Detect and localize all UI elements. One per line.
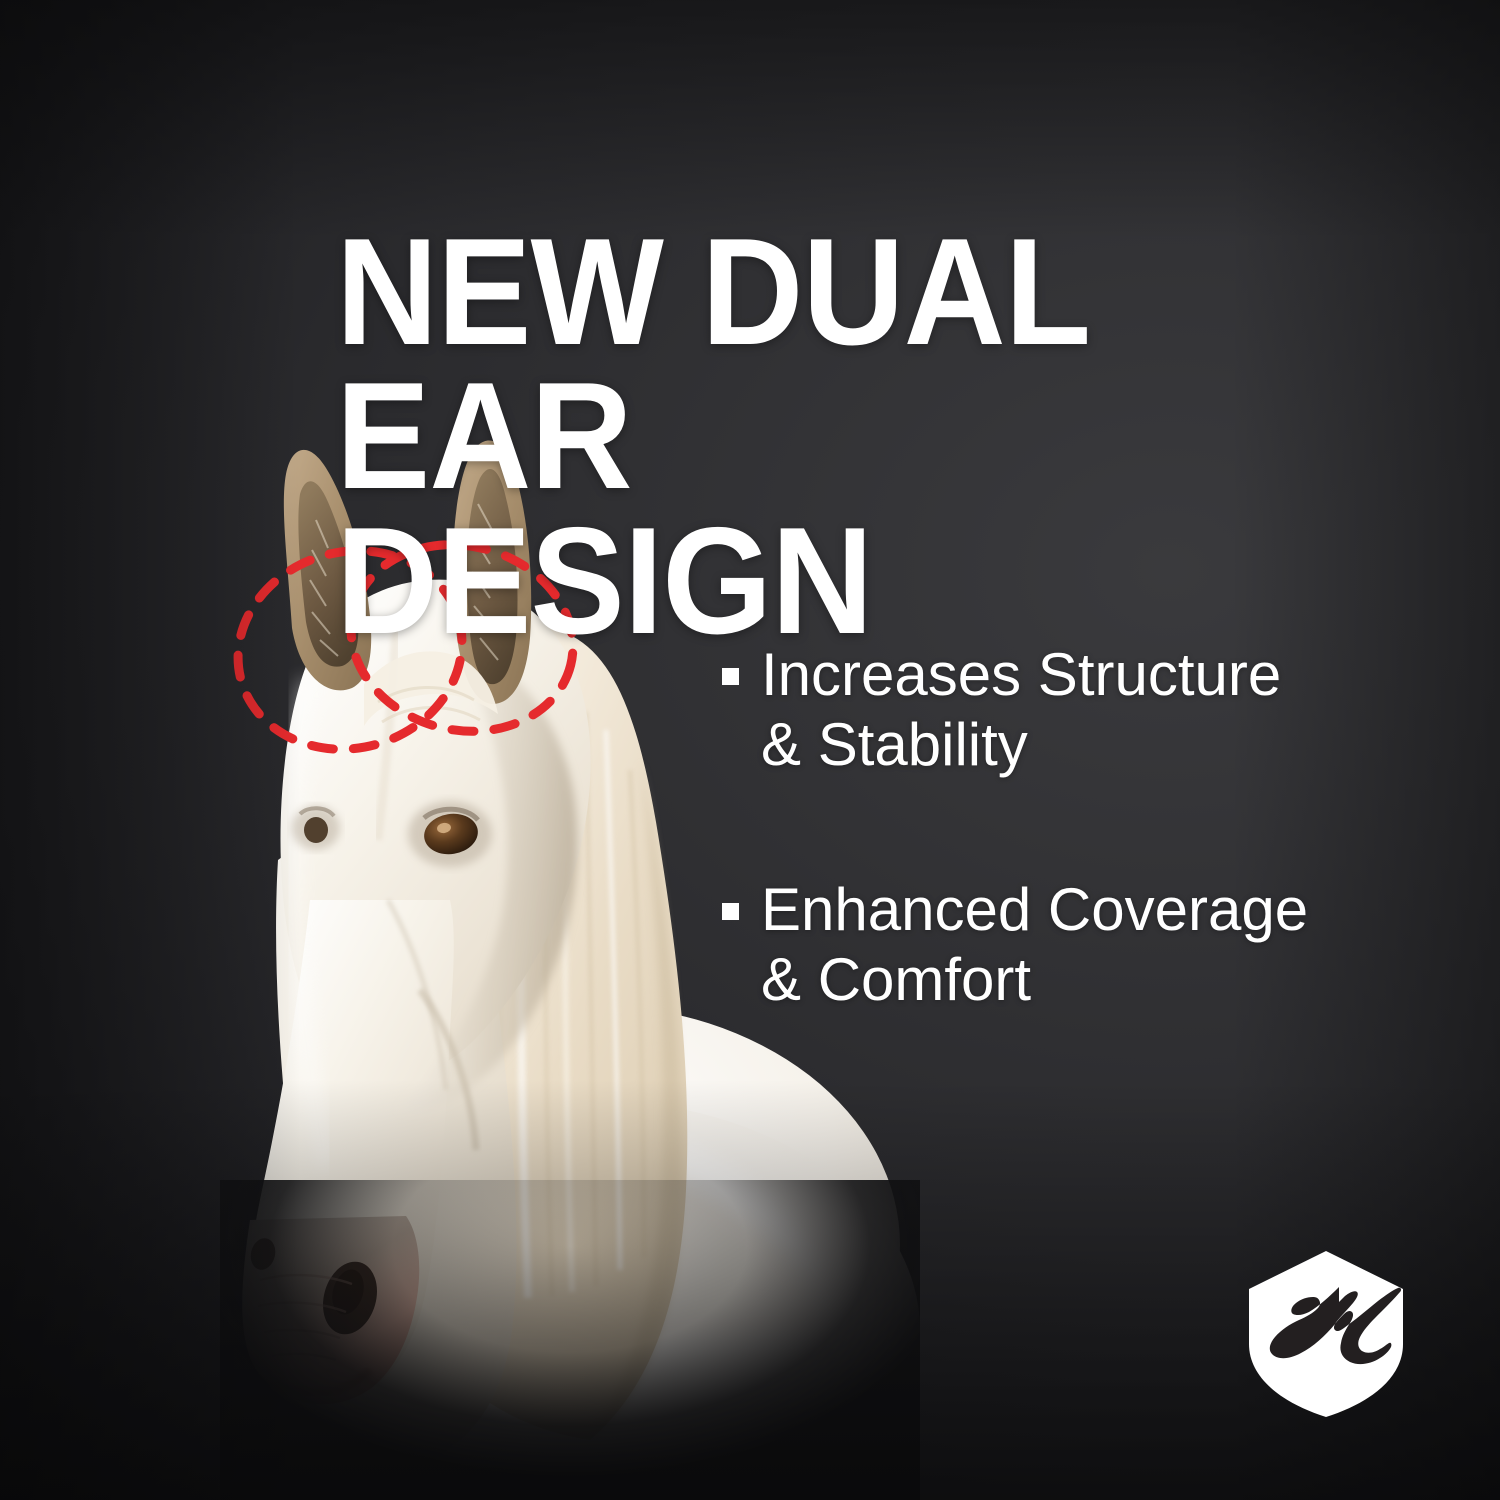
- shield-icon: [1249, 1251, 1403, 1417]
- list-item: Enhanced Coverage & Comfort: [722, 875, 1422, 1014]
- k-shield-logo: [1243, 1248, 1409, 1420]
- page-title: NEW DUAL EAR DESIGN: [336, 220, 1192, 653]
- feature-text: Increases Structure & Stability: [761, 640, 1281, 779]
- feature-text: Enhanced Coverage & Comfort: [761, 875, 1308, 1014]
- square-bullet-icon: [722, 903, 739, 920]
- feature-list: Increases Structure & Stability Enhanced…: [722, 640, 1422, 1014]
- square-bullet-icon: [722, 668, 739, 685]
- ad-creative-canvas: NEW DUAL EAR DESIGN Increases Structure …: [0, 0, 1500, 1500]
- list-item: Increases Structure & Stability: [722, 640, 1422, 779]
